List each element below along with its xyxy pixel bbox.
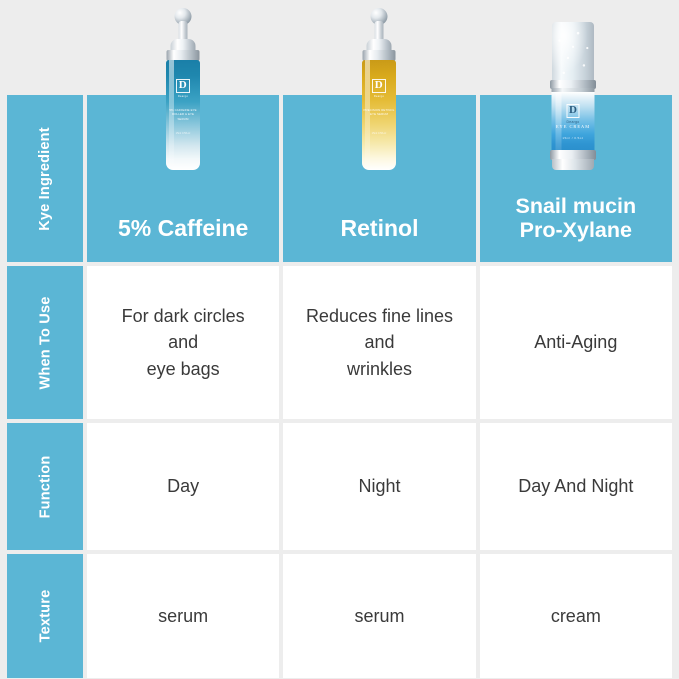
product-label-text: PRECISION RETINOL EYE SERUM — [363, 108, 395, 117]
cell-text: Day — [167, 473, 199, 499]
product-image-retinol-serum[interactable]: D Deargo PRECISION RETINOL EYE SERUM 15m… — [356, 8, 402, 170]
cell-texture-product-1: serum — [87, 554, 279, 678]
product-image-eye-cream[interactable]: D Deargo EYE CREAM 15ml / 0.5oz — [546, 22, 600, 172]
cell-text: Day And Night — [518, 473, 633, 499]
row-label-key-ingredient: Kye Ingredient — [7, 95, 83, 262]
row-label-text: Function — [37, 455, 53, 518]
cell-function-product-3: Day And Night — [480, 423, 672, 550]
row-label-text: When To Use — [37, 296, 53, 389]
brand-name: Deargo — [553, 120, 593, 124]
cell-texture-product-2: serum — [283, 554, 475, 678]
brand-monogram: D — [372, 79, 386, 93]
cell-text: serum — [158, 603, 208, 629]
cell-text: Anti-Aging — [534, 329, 617, 355]
brand-monogram: D — [176, 79, 190, 93]
product-label-text: 5% CAFFEINE EYE ROLLER & EYE SERUM — [167, 108, 199, 121]
bottle-logo: D Deargo — [168, 74, 198, 98]
bottle-logo: D Deargo — [364, 74, 394, 98]
row-label-text: Kye Ingredient — [37, 127, 53, 231]
cell-when-to-use-product-2: Reduces fine lines and wrinkles — [283, 266, 475, 419]
jar-base-foot — [552, 159, 594, 170]
cell-text: Reduces fine lines and wrinkles — [306, 303, 453, 381]
cell-when-to-use-product-1: For dark circles and eye bags — [87, 266, 279, 419]
brand-name: Deargo — [364, 95, 394, 98]
product-image-caffeine-serum[interactable]: D Deargo 5% CAFFEINE EYE ROLLER & EYE SE… — [160, 8, 206, 170]
header-text: 5% Caffeine — [118, 216, 248, 242]
brand-name: Deargo — [168, 95, 198, 98]
bottle-body: D Deargo PRECISION RETINOL EYE SERUM 15m… — [362, 60, 396, 170]
jar-body: D Deargo EYE CREAM 15ml / 0.5oz — [552, 92, 595, 152]
cell-function-product-1: Day — [87, 423, 279, 550]
cell-text: Night — [358, 473, 400, 499]
cell-text: serum — [354, 603, 404, 629]
product-volume: 15ml 0.5fl.oz — [364, 132, 394, 136]
cell-when-to-use-product-3: Anti-Aging — [480, 266, 672, 419]
bottle-logo: D Deargo — [553, 100, 593, 124]
product-volume: 15ml / 0.5oz — [552, 136, 594, 140]
row-label-texture: Texture — [7, 554, 83, 678]
comparison-table: Kye Ingredient 5% Caffeine Retinol Snail… — [7, 95, 672, 672]
cell-function-product-2: Night — [283, 423, 475, 550]
brand-monogram: D — [566, 104, 580, 118]
header-text: Retinol — [341, 216, 419, 242]
row-label-text: Texture — [37, 590, 53, 643]
row-label-function: Function — [7, 423, 83, 550]
row-label-when-to-use: When To Use — [7, 266, 83, 419]
cell-text: For dark circles and eye bags — [122, 303, 245, 381]
bottle-body: D Deargo 5% CAFFEINE EYE ROLLER & EYE SE… — [166, 60, 200, 170]
product-name-label: EYE CREAM — [552, 124, 594, 129]
cell-texture-product-3: cream — [480, 554, 672, 678]
cell-text: cream — [551, 603, 601, 629]
header-text: Snail mucin Pro-Xylane — [515, 194, 636, 242]
jar-frosted-cap — [552, 22, 594, 84]
product-volume: 15ml 0.5fl.oz — [168, 132, 198, 136]
